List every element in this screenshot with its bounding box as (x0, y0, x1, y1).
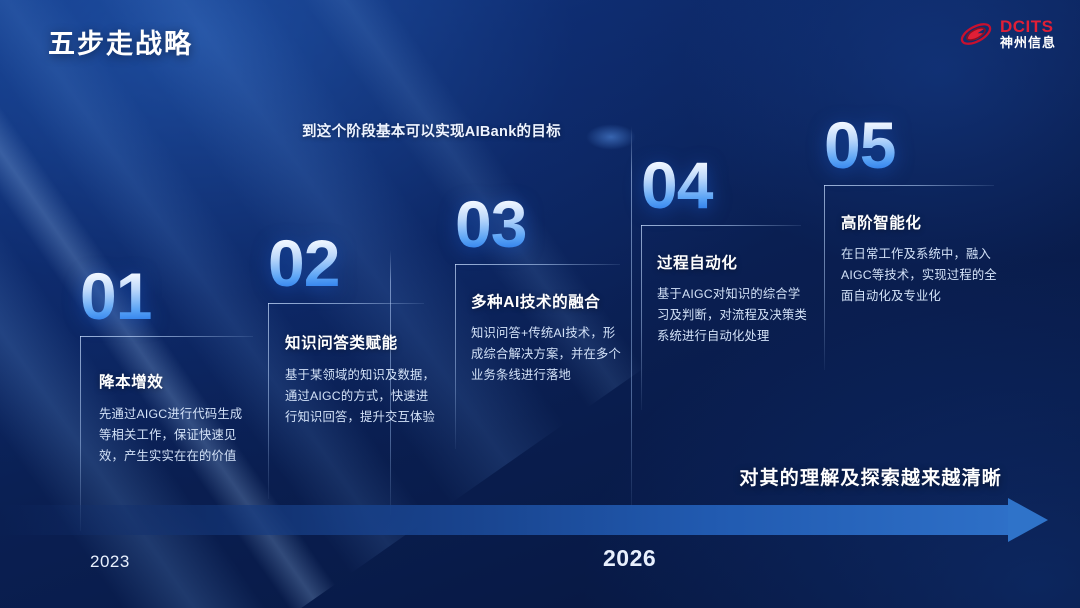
step-body-05: 在日常工作及系统中，融入AIGC等技术，实现过程的全面自动化及专业化 (824, 233, 999, 307)
card-top-rule (268, 303, 424, 304)
brand-logo: DCITS 神州信息 (959, 18, 1056, 49)
annotation-glow (586, 124, 636, 150)
card-left-rule (455, 264, 456, 449)
column-divider-2 (631, 126, 632, 511)
card-top-rule (641, 225, 801, 226)
step-item-04[interactable]: 04 过程自动化 基于AIGC对知识的综合学习及判断，对流程及决策类系统进行自动… (641, 154, 809, 415)
card-top-rule (455, 264, 620, 265)
card-top-rule (824, 185, 994, 186)
step-item-03[interactable]: 03 多种AI技术的融合 知识问答+传统AI技术，形成综合解决方案，并在多个业务… (455, 193, 627, 454)
timeline-arrow (0, 498, 1080, 542)
step-title-01: 降本增效 (80, 336, 260, 392)
step-number-05: 05 (824, 114, 999, 177)
timeline-arrow-bar (0, 505, 1012, 535)
step-number-02: 02 (268, 232, 438, 295)
step-number-01: 01 (80, 265, 260, 328)
step-title-05: 高阶智能化 (824, 185, 999, 233)
dcits-swirl-icon (959, 19, 993, 49)
logo-text-en: DCITS (1000, 18, 1056, 36)
card-left-rule (824, 185, 825, 370)
slide-canvas: 五步走战略 DCITS 神州信息 到这个阶段基本可以实现AIBank的目标 01… (0, 0, 1080, 608)
step-title-02: 知识问答类赋能 (268, 303, 438, 353)
step-body-04: 基于AIGC对知识的综合学习及判断，对流程及决策类系统进行自动化处理 (641, 273, 809, 347)
annotation-label: 到这个阶段基本可以实现AIBank的目标 (302, 120, 561, 141)
step-item-02[interactable]: 02 知识问答类赋能 基于某领域的知识及数据，通过AIGC的方式，快速进行知识回… (268, 232, 438, 503)
step-card-03: 多种AI技术的融合 知识问答+传统AI技术，形成综合解决方案，并在多个业务条线进… (455, 264, 627, 454)
step-body-01: 先通过AIGC进行代码生成等相关工作，保证快速见效，产生实实在在的价值 (80, 392, 260, 467)
logo-text-cn: 神州信息 (1000, 36, 1056, 50)
step-card-02: 知识问答类赋能 基于某领域的知识及数据，通过AIGC的方式，快速进行知识回答，提… (268, 303, 438, 503)
timeline-year-start: 2023 (90, 552, 130, 572)
card-left-rule (641, 225, 642, 410)
timeline-arrow-head-icon (1008, 498, 1048, 542)
page-title: 五步走战略 (48, 22, 193, 61)
step-item-01[interactable]: 01 降本增效 先通过AIGC进行代码生成等相关工作，保证快速见效，产生实实在在… (80, 265, 260, 534)
step-card-04: 过程自动化 基于AIGC对知识的综合学习及判断，对流程及决策类系统进行自动化处理 (641, 225, 809, 415)
step-title-03: 多种AI技术的融合 (455, 264, 627, 312)
step-body-02: 基于某领域的知识及数据，通过AIGC的方式，快速进行知识回答，提升交互体验 (268, 353, 438, 428)
step-number-03: 03 (455, 193, 627, 256)
card-left-rule (268, 303, 269, 499)
step-card-05: 高阶智能化 在日常工作及系统中，融入AIGC等技术，实现过程的全面自动化及专业化 (824, 185, 999, 375)
step-item-05[interactable]: 05 高阶智能化 在日常工作及系统中，融入AIGC等技术，实现过程的全面自动化及… (824, 114, 999, 375)
card-top-rule (80, 336, 253, 337)
timeline-arrow-label: 对其的理解及探索越来越清晰 (739, 463, 1002, 490)
step-body-03: 知识问答+传统AI技术，形成综合解决方案，并在多个业务条线进行落地 (455, 312, 627, 386)
timeline-year-end: 2026 (603, 545, 656, 572)
step-title-04: 过程自动化 (641, 225, 809, 273)
step-number-04: 04 (641, 154, 809, 217)
